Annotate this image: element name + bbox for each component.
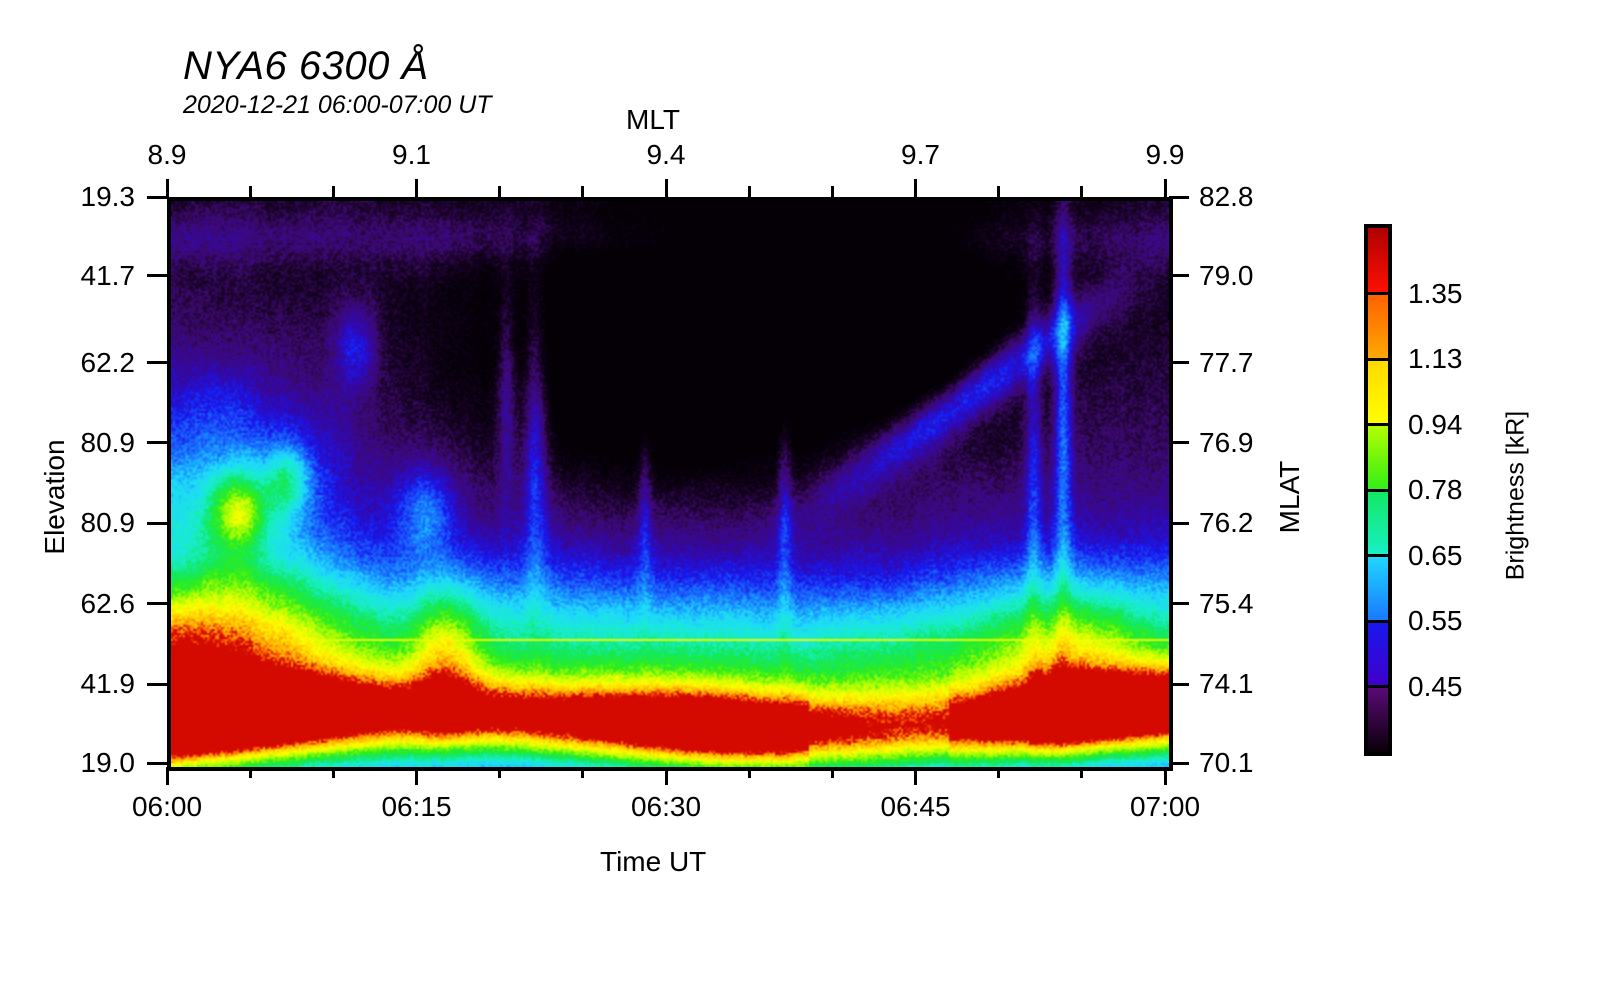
axis-tick — [498, 186, 501, 197]
bottom-axis-tick-label: 06:15 — [381, 791, 451, 823]
axis-tick — [1164, 767, 1167, 785]
axis-tick — [166, 767, 169, 785]
colorbar-tick-label: 0.65 — [1408, 540, 1463, 572]
right-axis-tick-label: 70.1 — [1199, 747, 1254, 779]
axis-tick — [997, 186, 1000, 197]
axis-tick — [1169, 441, 1189, 444]
axis-tick — [1169, 361, 1189, 364]
right-axis-tick-label: 76.2 — [1199, 507, 1254, 539]
top-axis-title: MLT — [626, 104, 680, 136]
axis-tick — [1169, 602, 1189, 605]
left-axis-tick-label: 19.0 — [0, 747, 135, 779]
top-axis-tick-label: 9.7 — [901, 139, 940, 171]
colorbar-tick-label: 1.35 — [1408, 278, 1463, 310]
colorbar — [1364, 224, 1392, 756]
top-axis-tick-label: 9.9 — [1146, 139, 1185, 171]
right-axis-tick-label: 82.8 — [1199, 181, 1254, 213]
left-axis-tick-label: 62.2 — [0, 347, 135, 379]
keogram-figure: NYA6 6300 Å 2020-12-21 06:00-07:00 UT ML… — [0, 0, 1600, 1000]
page-subtitle: 2020-12-21 06:00-07:00 UT — [183, 91, 492, 120]
top-axis-tick-label: 8.9 — [148, 139, 187, 171]
top-axis-tick-label: 9.4 — [647, 139, 686, 171]
left-axis-tick-label: 41.7 — [0, 260, 135, 292]
axis-tick — [1169, 683, 1189, 686]
axis-tick — [332, 186, 335, 197]
axis-tick — [332, 767, 335, 778]
colorbar-title: Brightness [kR] — [1502, 366, 1531, 626]
axis-tick — [1169, 522, 1189, 525]
axis-tick — [147, 683, 167, 686]
colorbar-divider — [1368, 620, 1388, 623]
axis-tick — [415, 179, 418, 197]
right-axis-tick-label: 77.7 — [1199, 347, 1254, 379]
colorbar-segment — [1368, 687, 1388, 753]
axis-tick — [498, 767, 501, 778]
colorbar-segment — [1368, 294, 1388, 360]
right-axis-tick-label: 79.0 — [1199, 260, 1254, 292]
colorbar-tick-label: 0.78 — [1408, 474, 1463, 506]
axis-tick — [748, 186, 751, 197]
axis-tick — [1164, 179, 1167, 197]
right-axis-tick-label: 74.1 — [1199, 668, 1254, 700]
axis-tick — [147, 441, 167, 444]
axis-tick — [748, 767, 751, 778]
left-axis-tick-label: 80.9 — [0, 427, 135, 459]
axis-tick — [665, 179, 668, 197]
colorbar-divider — [1368, 292, 1388, 295]
axis-tick — [415, 767, 418, 785]
axis-tick — [249, 767, 252, 778]
colorbar-divider — [1368, 685, 1388, 688]
axis-tick — [147, 762, 167, 765]
bottom-axis-tick-label: 06:30 — [631, 791, 701, 823]
page-title: NYA6 6300 Å — [183, 44, 429, 89]
colorbar-tick-label: 0.94 — [1408, 409, 1463, 441]
axis-tick — [147, 274, 167, 277]
axis-tick — [665, 767, 668, 785]
axis-tick — [1080, 186, 1083, 197]
axis-tick — [997, 767, 1000, 778]
axis-tick — [581, 767, 584, 778]
axis-tick — [831, 767, 834, 778]
left-axis-tick-label: 19.3 — [0, 181, 135, 213]
colorbar-tick-label: 0.45 — [1408, 671, 1463, 703]
colorbar-divider — [1368, 554, 1388, 557]
colorbar-divider — [1368, 423, 1388, 426]
axis-tick — [1169, 762, 1189, 765]
colorbar-segment — [1368, 425, 1388, 491]
axis-tick — [914, 179, 917, 197]
axis-tick — [147, 522, 167, 525]
colorbar-divider — [1368, 489, 1388, 492]
left-axis-tick-label: 41.9 — [0, 668, 135, 700]
axis-tick — [914, 767, 917, 785]
right-axis-tick-label: 75.4 — [1199, 588, 1254, 620]
colorbar-segment — [1368, 490, 1388, 556]
bottom-axis-tick-label: 06:00 — [132, 791, 202, 823]
axis-tick — [147, 361, 167, 364]
right-axis-tick-label: 76.9 — [1199, 427, 1254, 459]
right-axis-title: MLAT — [1274, 407, 1306, 587]
axis-tick — [249, 186, 252, 197]
axis-tick — [147, 602, 167, 605]
colorbar-segment — [1368, 228, 1388, 294]
keogram-image — [171, 201, 1169, 767]
colorbar-segment — [1368, 359, 1388, 425]
colorbar-segment — [1368, 556, 1388, 622]
colorbar-divider — [1368, 358, 1388, 361]
left-axis-tick-label: 62.6 — [0, 588, 135, 620]
colorbar-tick-label: 1.13 — [1408, 343, 1463, 375]
colorbar-tick-label: 0.55 — [1408, 605, 1463, 637]
left-axis-tick-label: 80.9 — [0, 507, 135, 539]
axis-tick — [147, 196, 167, 199]
colorbar-segment — [1368, 621, 1388, 687]
axis-tick — [831, 186, 834, 197]
bottom-axis-tick-label: 07:00 — [1130, 791, 1200, 823]
axis-tick — [581, 186, 584, 197]
axis-tick — [166, 179, 169, 197]
top-axis-tick-label: 9.1 — [392, 139, 431, 171]
bottom-axis-tick-label: 06:45 — [880, 791, 950, 823]
bottom-axis-title: Time UT — [600, 846, 706, 878]
keogram-plot-area — [167, 197, 1173, 771]
axis-tick — [1080, 767, 1083, 778]
axis-tick — [1169, 196, 1189, 199]
axis-tick — [1169, 274, 1189, 277]
